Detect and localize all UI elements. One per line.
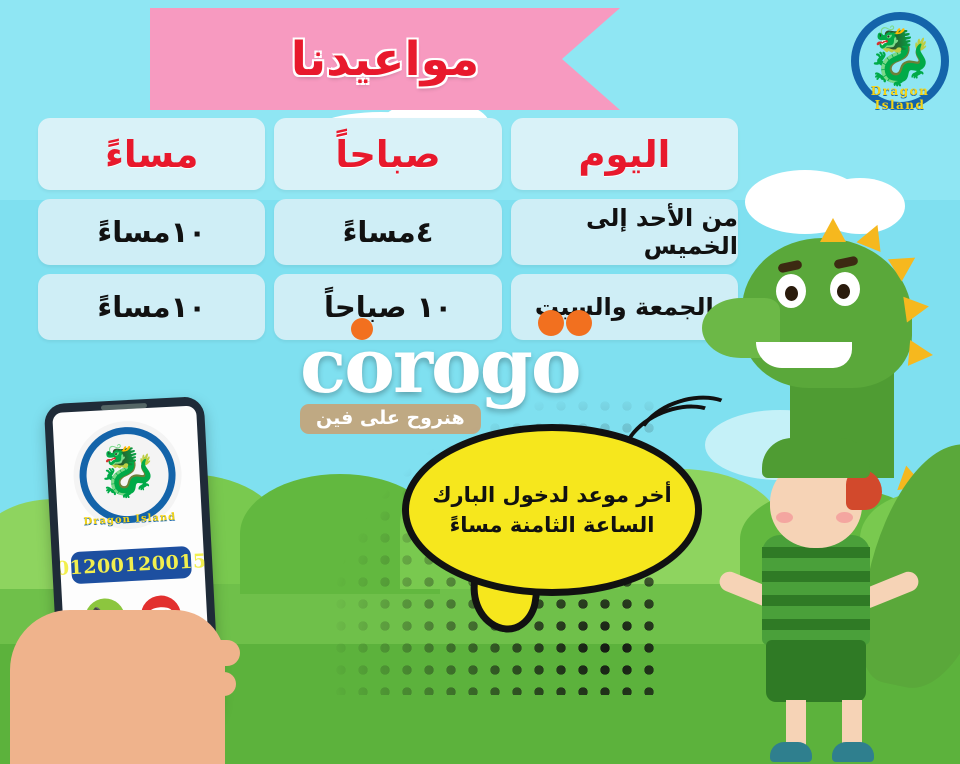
table-row: من الأحد إلى الخميس ٤مساءً ١٠مساءً (38, 199, 738, 265)
shirt-stripe (762, 547, 870, 558)
cell-value: ٤مساءً (343, 215, 434, 249)
phone-brand-logo: 🐉 Dragon Island (71, 418, 185, 532)
phone-number: 01200120015 (55, 550, 207, 580)
cell-value: ١٠ صباحاً (324, 290, 452, 324)
boy-cheek (836, 512, 853, 523)
dragon-eye (830, 272, 860, 306)
boy-leg (842, 700, 862, 748)
shirt-stripe (762, 571, 870, 582)
boy-dragon-cap (762, 438, 870, 478)
dragon-brow (833, 256, 858, 270)
boy-shoe (770, 742, 812, 762)
watermark-dot (351, 318, 373, 340)
phone-number-badge: 01200120015 (71, 546, 193, 584)
table-header-row: اليوم صباحاً مساءً (38, 118, 738, 190)
cell-value: ١٠مساءً (97, 215, 206, 249)
boy-cheek (776, 512, 793, 523)
table-row: الجمعة والسبت ١٠ صباحاً ١٠مساءً (38, 274, 738, 340)
finger (196, 640, 240, 666)
dragon-spike (903, 293, 930, 322)
header-label: مساءً (105, 133, 198, 176)
cell-day: من الأحد إلى الخميس (511, 199, 738, 265)
dragon-pupil (785, 286, 798, 301)
boy-shorts (766, 640, 866, 702)
finger (196, 672, 236, 696)
header-cell-day: اليوم (511, 118, 738, 190)
brand-name: Dragon Island (845, 84, 955, 112)
dragon-pupil (837, 284, 850, 299)
dragon-spike (820, 218, 846, 242)
shirt-stripe (762, 619, 870, 630)
boy-shoe (832, 742, 874, 762)
brand-logo: 🐉 Dragon Island (845, 6, 955, 116)
watermark-dot (538, 310, 564, 336)
page-title: مواعيدنا (150, 8, 620, 110)
boy-body (762, 535, 870, 645)
dragon-icon: 🐉 (95, 444, 160, 497)
dragon-spike (908, 340, 934, 368)
cell-morning: ٤مساءً (274, 199, 501, 265)
promo-poster: مواعيدنا 🐉 Dragon Island اليوم صباحاً مس… (0, 0, 960, 764)
bubble-line-1: أخر موعد لدخول البارك (432, 480, 671, 510)
dragon-icon: 🐉 (865, 29, 935, 85)
bubble-line-2: الساعة الثامنة مساءً (450, 510, 655, 540)
speech-bubble: أخر موعد لدخول البارك الساعة الثامنة مسا… (402, 424, 702, 596)
dragon-eye (776, 274, 806, 308)
brand-name: Dragon Island (76, 511, 184, 528)
cell-morning: ١٠ صباحاً (274, 274, 501, 340)
watermark-dot (566, 310, 592, 336)
header-cell-morning: صباحاً (274, 118, 501, 190)
hand-holding-phone (10, 610, 225, 764)
boy-leg (786, 700, 806, 748)
header-label: اليوم (578, 133, 670, 176)
header-cell-evening: مساءً (38, 118, 265, 190)
header-label: صباحاً (335, 133, 440, 176)
cell-evening: ١٠مساءً (38, 274, 265, 340)
dragon-smile (756, 342, 852, 368)
cell-value: ١٠مساءً (97, 290, 206, 324)
shirt-stripe (762, 595, 870, 606)
banner-ribbon: مواعيدنا (150, 8, 620, 110)
cell-value: من الأحد إلى الخميس (511, 204, 738, 260)
cell-evening: ١٠مساءً (38, 199, 265, 265)
dragon-brow (777, 260, 802, 274)
schedule-table: اليوم صباحاً مساءً من الأحد إلى الخميس ٤… (38, 118, 738, 340)
